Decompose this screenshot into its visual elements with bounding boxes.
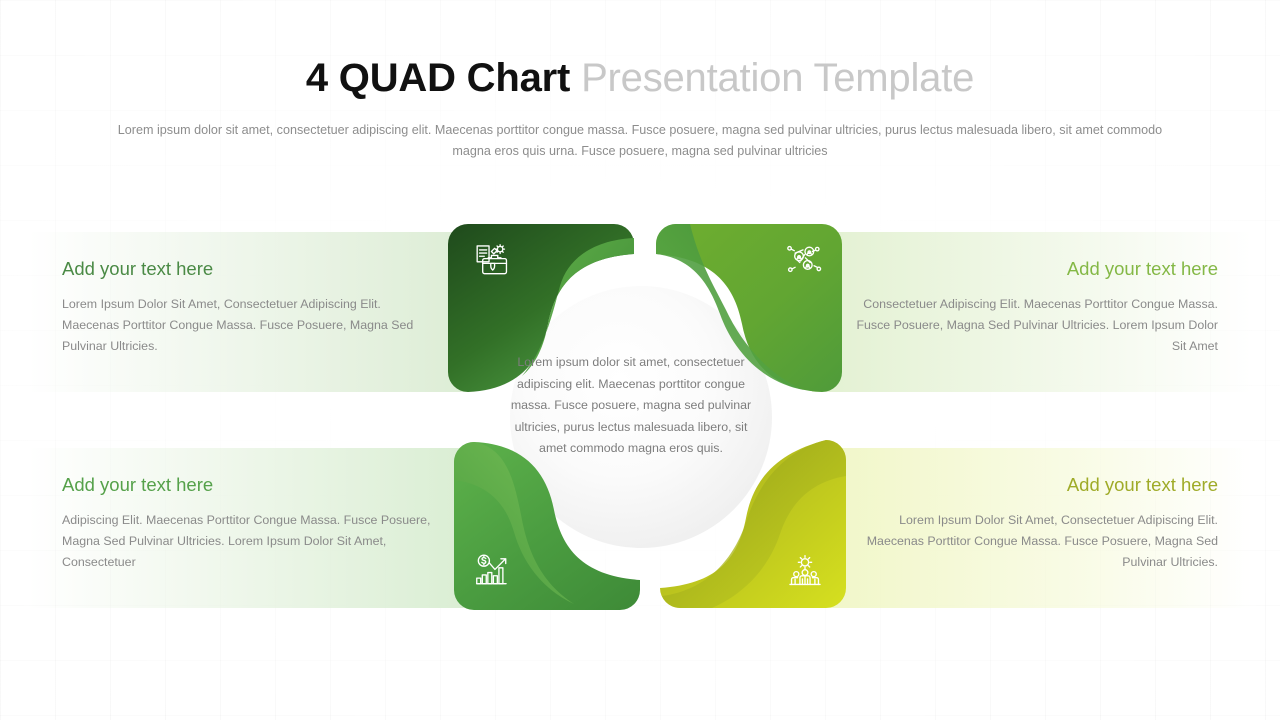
quadrant-heading-bottom-left: Add your text here	[62, 474, 434, 496]
page-title: 4 QUAD Chart Presentation Template	[0, 56, 1280, 101]
slide-canvas: 4 QUAD Chart Presentation Template Lorem…	[0, 0, 1280, 720]
quadrant-panel-bottom-right[interactable]: Add your text here Lorem Ipsum Dolor Sit…	[812, 448, 1252, 608]
center-description: Lorem ipsum dolor sit amet, consectetuer…	[500, 352, 762, 460]
quadrant-panel-top-right[interactable]: Add your text here Consectetuer Adipisci…	[812, 232, 1252, 392]
briefcase-document-gear-icon	[474, 242, 512, 280]
quadrant-heading-top-left: Add your text here	[62, 258, 434, 280]
team-gear-icon	[786, 552, 824, 590]
quadrant-body-bottom-left: Adipiscing Elit. Maecenas Porttitor Cong…	[62, 510, 434, 573]
network-people-icon	[784, 242, 822, 280]
quadrant-panel-top-left[interactable]: Add your text here Lorem Ipsum Dolor Sit…	[28, 232, 468, 392]
quadrant-heading-top-right: Add your text here	[846, 258, 1218, 280]
growth-chart-dollar-icon	[472, 552, 510, 590]
quadrant-body-top-left: Lorem Ipsum Dolor Sit Amet, Consectetuer…	[62, 294, 434, 357]
quadrant-panel-bottom-left[interactable]: Add your text here Adipiscing Elit. Maec…	[28, 448, 468, 608]
quadrant-body-top-right: Consectetuer Adipiscing Elit. Maecenas P…	[846, 294, 1218, 357]
page-title-strong: 4 QUAD Chart	[306, 56, 570, 100]
page-subtitle: Lorem ipsum dolor sit amet, consectetuer…	[105, 120, 1175, 162]
quadrant-body-bottom-right: Lorem Ipsum Dolor Sit Amet, Consectetuer…	[846, 510, 1218, 573]
quadrant-heading-bottom-right: Add your text here	[846, 474, 1218, 496]
page-title-light: Presentation Template	[581, 56, 974, 100]
